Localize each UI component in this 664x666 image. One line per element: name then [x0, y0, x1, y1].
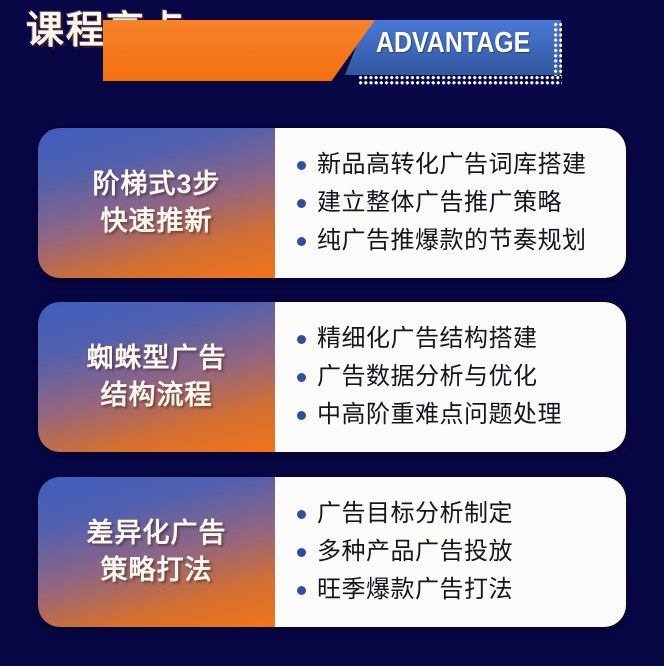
- bullet-label: 新品高转化广告词库搭建: [317, 150, 587, 180]
- list-item: 广告数据分析与优化: [297, 358, 626, 396]
- list-item: 精细化广告结构搭建: [297, 320, 626, 358]
- page-title-en: ADVANTAGE: [376, 26, 527, 60]
- bullet-dot-icon: [297, 199, 306, 208]
- card-title-panel: 差异化广告 策略打法: [38, 477, 275, 627]
- highlight-card: 蜘蛛型广告 结构流程 精细化广告结构搭建 广告数据分析与优化 中高阶重难点问题处…: [38, 302, 626, 452]
- dotted-decoration-right-icon: [553, 22, 562, 76]
- highlight-card: 差异化广告 策略打法 广告目标分析制定 多种产品广告投放 旺季爆款广告打法: [38, 477, 626, 627]
- bullet-label: 建立整体广告推广策略: [317, 188, 562, 218]
- card-bullets-panel: 新品高转化广告词库搭建 建立整体广告推广策略 纯广告推爆款的节奏规划: [275, 128, 626, 278]
- bullet-dot-icon: [297, 237, 306, 246]
- list-item: 旺季爆款广告打法: [297, 571, 626, 609]
- bullet-dot-icon: [297, 335, 306, 344]
- card-title-line-1: 阶梯式3步: [92, 166, 220, 203]
- bullet-dot-icon: [297, 411, 306, 420]
- card-title-line-2: 策略打法: [101, 552, 213, 589]
- list-item: 建立整体广告推广策略: [297, 184, 626, 222]
- card-bullets-panel: 精细化广告结构搭建 广告数据分析与优化 中高阶重难点问题处理: [275, 302, 626, 452]
- card-title-line-1: 蜘蛛型广告: [87, 340, 227, 377]
- list-item: 中高阶重难点问题处理: [297, 396, 626, 434]
- bullet-label: 多种产品广告投放: [317, 537, 513, 567]
- list-item: 纯广告推爆款的节奏规划: [297, 222, 626, 260]
- bullet-label: 广告目标分析制定: [317, 499, 513, 529]
- list-item: 广告目标分析制定: [297, 495, 626, 533]
- bullet-label: 精细化广告结构搭建: [317, 324, 538, 354]
- bullet-dot-icon: [297, 586, 306, 595]
- bullet-label: 中高阶重难点问题处理: [317, 400, 562, 430]
- page-header: 课程亮点 ADVANTAGE: [0, 0, 664, 108]
- card-title-panel: 蜘蛛型广告 结构流程: [38, 302, 275, 452]
- card-title-line-2: 结构流程: [101, 377, 213, 414]
- bullet-dot-icon: [297, 161, 306, 170]
- dotted-decoration-bottom-icon: [358, 75, 562, 85]
- bullet-dot-icon: [297, 548, 306, 557]
- highlight-card: 阶梯式3步 快速推新 新品高转化广告词库搭建 建立整体广告推广策略 纯广告推爆款…: [38, 128, 626, 278]
- list-item: 新品高转化广告词库搭建: [297, 146, 626, 184]
- bullet-label: 旺季爆款广告打法: [317, 575, 513, 605]
- bullet-dot-icon: [297, 510, 306, 519]
- card-title-panel: 阶梯式3步 快速推新: [38, 128, 275, 278]
- bullet-label: 广告数据分析与优化: [317, 362, 538, 392]
- list-item: 多种产品广告投放: [297, 533, 626, 571]
- header-orange-banner: [103, 20, 375, 81]
- card-title-line-2: 快速推新: [101, 203, 213, 240]
- bullet-label: 纯广告推爆款的节奏规划: [317, 226, 587, 256]
- bullet-dot-icon: [297, 373, 306, 382]
- card-title-line-1: 差异化广告: [87, 515, 227, 552]
- card-bullets-panel: 广告目标分析制定 多种产品广告投放 旺季爆款广告打法: [275, 477, 626, 627]
